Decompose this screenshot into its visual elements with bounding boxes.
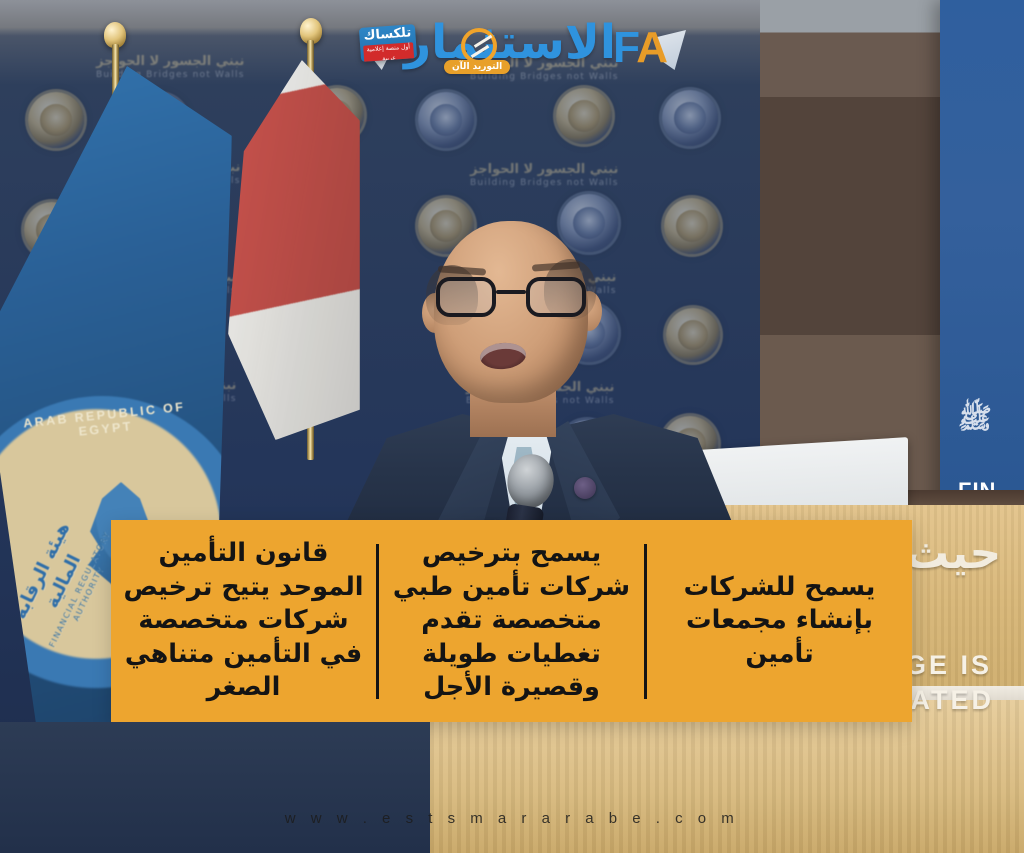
podium-arabic-text: حيث bbox=[905, 528, 1001, 579]
backdrop-slogan-en: Building Bridges not Walls bbox=[470, 178, 619, 189]
growth-arrow-icon bbox=[461, 28, 497, 64]
alestsmar-logo-tagline: التوريد الآن bbox=[444, 60, 510, 74]
rollup-calligraphy-mark: ﷺ bbox=[958, 402, 992, 442]
caption-column-middle: يسمح بترخيص شركات تأمين طبي متخصصة تقدم … bbox=[379, 520, 644, 722]
backdrop-emblem bbox=[418, 92, 474, 148]
caption-text-right: قانون التأمين الموحد يتيح ترخيص شركات مت… bbox=[121, 537, 366, 705]
backdrop-emblem bbox=[556, 88, 612, 144]
caption-divider bbox=[376, 544, 379, 699]
caption-panel: قانون التأمين الموحد يتيح ترخيص شركات مت… bbox=[111, 520, 912, 722]
caption-column-right: قانون التأمين الموحد يتيح ترخيص شركات مت… bbox=[111, 520, 376, 722]
podium-english-line-1: GE IS bbox=[905, 650, 992, 681]
fa-logo[interactable]: F A bbox=[610, 22, 684, 74]
backdrop-emblem bbox=[662, 90, 718, 146]
lapel-pin-icon bbox=[574, 477, 596, 499]
caption-text-middle: يسمح بترخيص شركات تأمين طبي متخصصة تقدم … bbox=[389, 537, 634, 705]
eyeglasses-icon bbox=[434, 277, 588, 317]
backdrop-slogan-ar: نبني الجسور لا الحواجز bbox=[470, 162, 619, 178]
backdrop-emblem bbox=[28, 92, 84, 148]
lens-left bbox=[436, 277, 496, 317]
speaker-at-podium bbox=[330, 215, 730, 545]
news-card-stage: نبني الجسور لا الحواجز Building Bridges … bbox=[0, 0, 1024, 853]
seal-english-text: ARAB REPUBLIC OF EGYPT bbox=[0, 397, 211, 447]
footer-bar: w w w . e s t s m a r a r a b e . c o m bbox=[0, 722, 1024, 853]
fa-logo-letter-a: A bbox=[634, 26, 668, 70]
caption-divider bbox=[644, 544, 647, 699]
caption-column-left: يسمح للشركات بإنشاء مجمعات تأمين bbox=[647, 520, 912, 722]
caption-text-left: يسمح للشركات بإنشاء مجمعات تأمين bbox=[657, 571, 902, 672]
glasses-bridge bbox=[496, 290, 526, 294]
lens-right bbox=[526, 277, 586, 317]
website-url[interactable]: w w w . e s t s m a r a r a b e . c o m bbox=[0, 810, 1024, 827]
footer-backdrop-left bbox=[0, 722, 430, 853]
logo-bar: تلكساك أول منصة إعلامية عربية الاستثمار … bbox=[0, 0, 1024, 96]
